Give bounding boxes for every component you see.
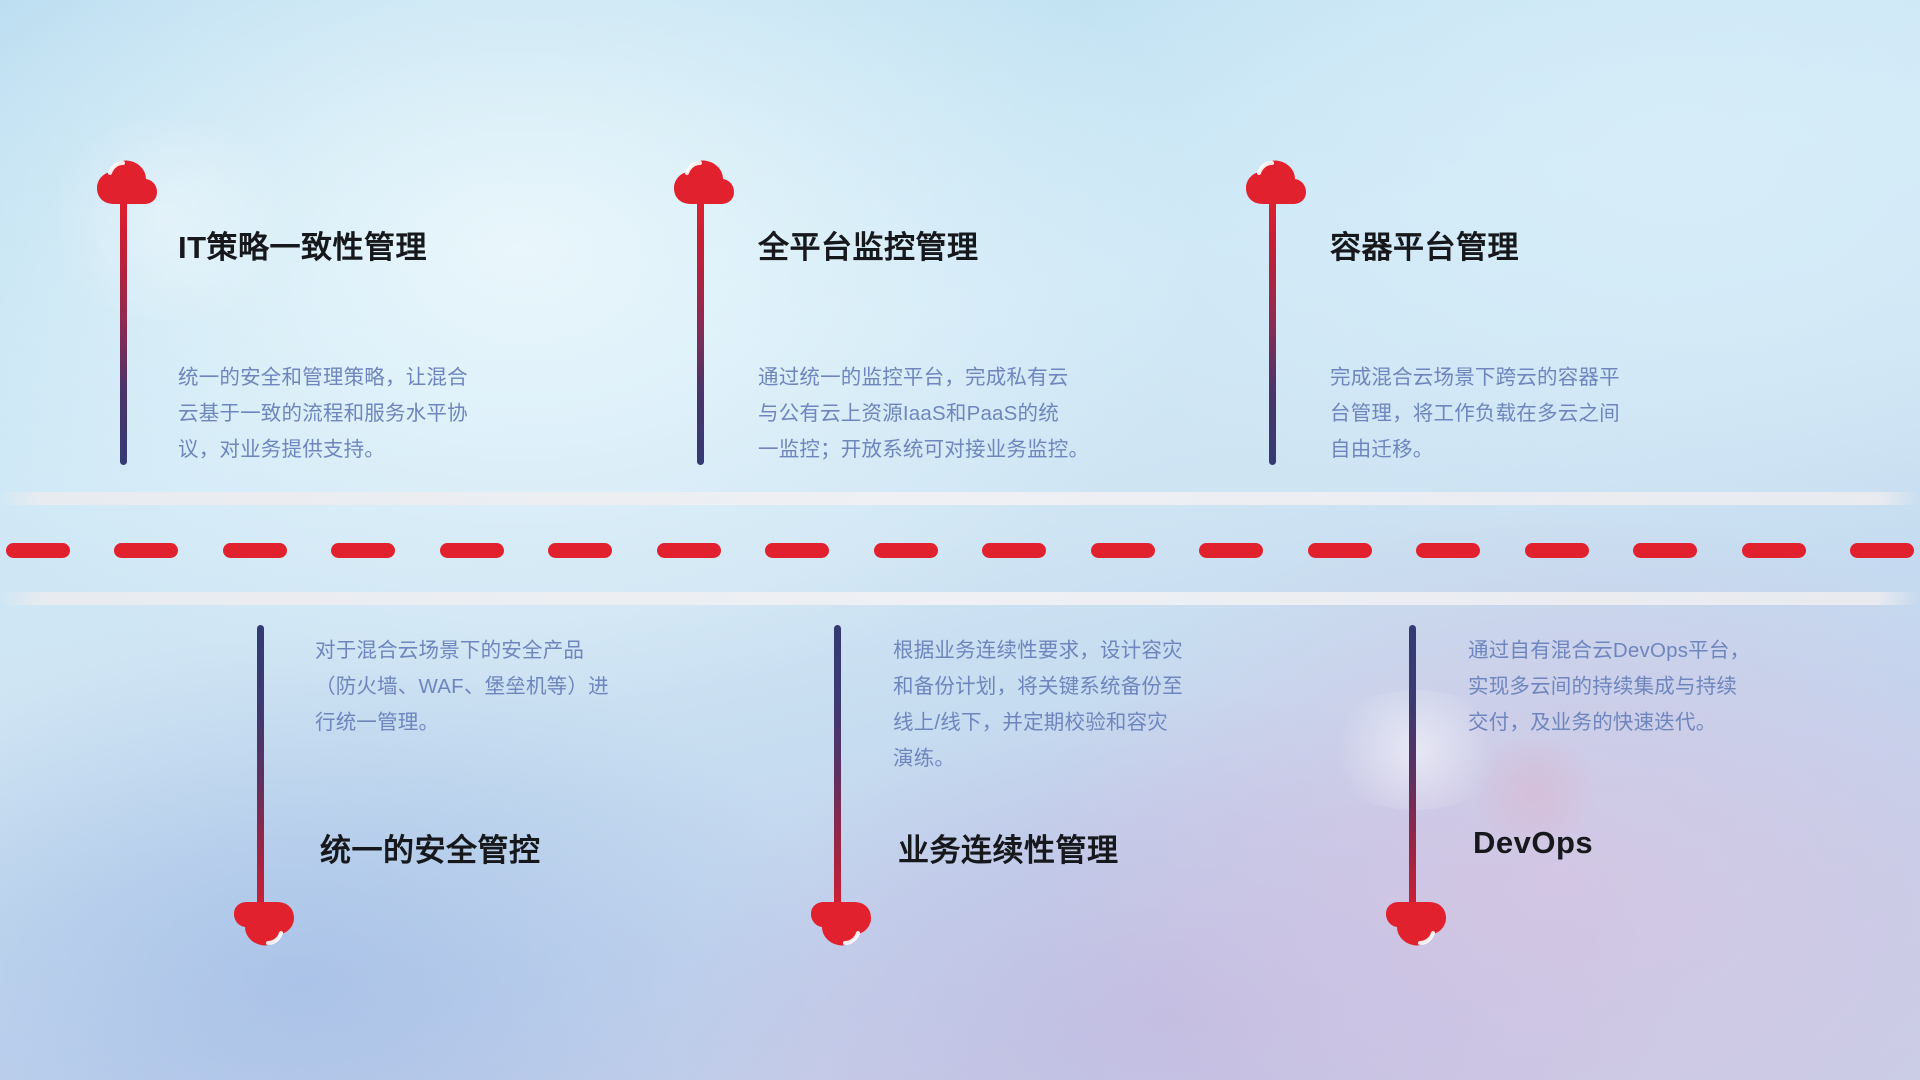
divider-dash [548,543,612,558]
divider-dash [1308,543,1372,558]
divider-dash [331,543,395,558]
divider-dash [223,543,287,558]
background-glow-upper-left [40,120,300,320]
divider-dash [657,543,721,558]
card-heading: 容器平台管理 [1330,222,1519,267]
divider-dashed-line [0,542,1920,558]
divider-dash [1091,543,1155,558]
cloud-icon [673,160,735,206]
divider-dash [114,543,178,558]
divider-dash [1742,543,1806,558]
divider-dash [440,543,504,558]
divider-dash [1633,543,1697,558]
divider-dash [982,543,1046,558]
timeline-stem [834,625,841,915]
timeline-stem [697,200,704,465]
cloud-icon [810,900,872,946]
cloud-icon [1385,900,1447,946]
card-body: 通过统一的监控平台，完成私有云 与公有云上资源IaaS和PaaS的统 一监控；开… [758,360,1198,468]
card-heading: DevOps [1473,825,1593,861]
card-heading: 业务连续性管理 [898,825,1119,870]
cloud-icon [233,900,295,946]
divider-dash [1850,543,1914,558]
divider-dash [765,543,829,558]
card-body: 完成混合云场景下跨云的容器平 台管理，将工作负载在多云之间 自由迁移。 [1330,360,1760,468]
card-body: 统一的安全和管理策略，让混合 云基于一致的流程和服务水平协 议，对业务提供支持。 [178,360,598,468]
divider-dash [6,543,70,558]
divider-rail-bottom [0,592,1920,605]
divider-dash [1199,543,1263,558]
card-body: 根据业务连续性要求，设计容灾 和备份计划，将关键系统备份至 线上/线下，并定期校… [893,633,1323,777]
card-heading: 统一的安全管控 [320,825,541,870]
infographic-canvas: IT策略一致性管理 统一的安全和管理策略，让混合 云基于一致的流程和服务水平协 … [0,0,1920,1080]
timeline-stem [120,200,127,465]
cloud-icon [96,160,158,206]
card-body: 对于混合云场景下的安全产品 （防火墙、WAF、堡垒机等）进 行统一管理。 [315,633,745,741]
timeline-stem [1409,625,1416,915]
divider-dash [874,543,938,558]
divider-dash [1525,543,1589,558]
card-heading: IT策略一致性管理 [178,222,427,267]
card-body: 通过自有混合云DevOps平台， 实现多云间的持续集成与持续 交付，及业务的快速… [1468,633,1898,741]
cloud-icon [1245,160,1307,206]
timeline-stem [257,625,264,915]
divider-rail-top [0,492,1920,505]
timeline-stem [1269,200,1276,465]
divider-dash [1416,543,1480,558]
card-heading: 全平台监控管理 [758,222,979,267]
